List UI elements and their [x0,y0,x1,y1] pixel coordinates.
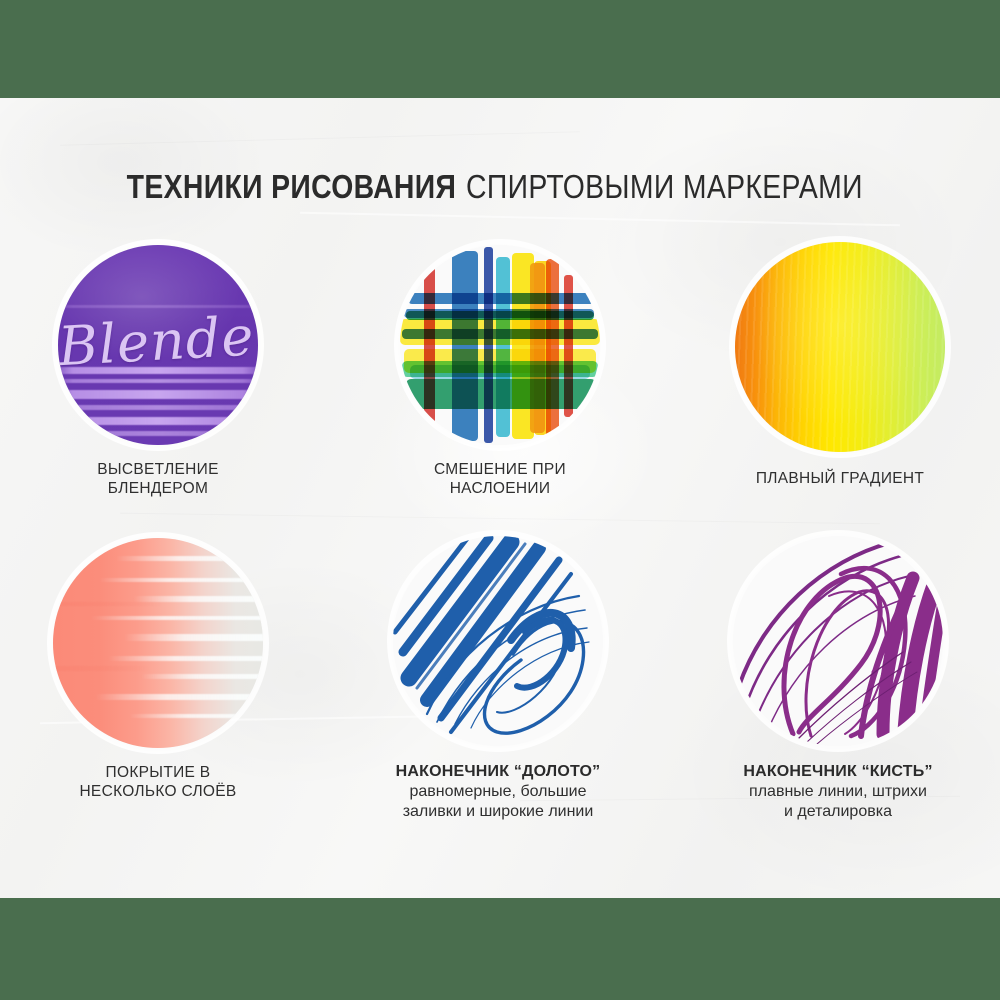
pink-streak-dark [53,666,150,671]
pink-streak [116,556,263,561]
stroke-vertical-blue [452,251,478,441]
stroke-vertical-cyan [496,257,510,437]
pink-streak [124,634,263,641]
stroke-horizontal-yellow [400,319,600,345]
paper-crease [300,212,900,227]
pink-streak [108,656,263,661]
caption-blender-lightening: ВЫСВЕТЛЕНИЕ БЛЕНДЕРОМ [0,461,325,499]
caption-sub-1: плавные линии, штрихи [671,782,1000,802]
blender-streak [58,417,258,425]
technique-item-multi-layer-coverage[interactable]: ПОКРЫТИЕ В НЕСКОЛЬКО СЛОЁВ [0,538,325,802]
stroke-horizontal-green [406,379,596,409]
swatch-smooth-gradient [735,242,945,452]
pink-streak [99,578,263,582]
pink-streak [91,616,263,620]
swatch-chisel-nib [393,536,603,746]
blender-handwritten-word: Blender [58,304,258,378]
swatch-layering-blend [400,245,600,445]
stroke-horizontal-blue [408,293,594,304]
caption-multi-layer-coverage: ПОКРЫТИЕ В НЕСКОЛЬКО СЛОЁВ [0,764,325,802]
chisel-nib-artwork [393,536,603,746]
poster-canvas: ТЕХНИКИ РИСОВАНИЯСПИРТОВЫМИ МАРКЕРАМИ Bl… [0,0,1000,1000]
caption-heading: НАКОНЕЧНИК “КИСТЬ” [671,762,1000,782]
blender-streak [58,390,258,399]
technique-item-smooth-gradient[interactable]: ПЛАВНЫЙ ГРАДИЕНТ [673,242,1000,489]
pink-streak [141,674,263,679]
page-title: ТЕХНИКИ РИСОВАНИЯСПИРТОВЫМИ МАРКЕРАМИ [0,168,1000,206]
caption-sub-2: заливки и широкие линии [331,802,665,822]
pink-streak [95,694,263,700]
caption-line-1: ВЫСВЕТЛЕНИЕ [0,461,325,480]
brush-nib-artwork [733,536,943,746]
caption-line-2: НЕСКОЛЬКО СЛОЁВ [0,783,325,802]
stroke-vertical-navy [484,247,493,443]
caption-heading: НАКОНЕЧНИК “ДОЛОТО” [331,762,665,782]
caption-line-1: СМЕШЕНИЕ ПРИ [333,461,667,480]
caption-sub-1: равномерные, большие [331,782,665,802]
caption-line-1: ПЛАВНЫЙ ГРАДИЕНТ [673,470,1000,489]
blender-streak [58,379,258,383]
blender-streak [58,431,258,436]
pink-streak [129,714,263,718]
caption-smooth-gradient: ПЛАВНЫЙ ГРАДИЕНТ [673,470,1000,489]
technique-item-layering-blend[interactable]: СМЕШЕНИЕ ПРИ НАСЛОЕНИИ [333,245,667,499]
pink-streak-dark [53,602,162,606]
technique-item-brush-nib[interactable]: НАКОНЕЧНИК “КИСТЬ” плавные линии, штрихи… [671,536,1000,822]
swatch-texture [735,242,945,452]
caption-line-2: БЛЕНДЕРОМ [0,480,325,499]
caption-sub-2: и деталировка [671,802,1000,822]
caption-line-1: ПОКРЫТИЕ В [0,764,325,783]
caption-brush-nib: НАКОНЕЧНИК “КИСТЬ” плавные линии, штрихи… [671,762,1000,822]
stroke-horizontal-cyan [410,365,590,379]
page-title-bold: ТЕХНИКИ РИСОВАНИЯ [126,168,456,206]
page-title-light: СПИРТОВЫМИ МАРКЕРАМИ [466,168,863,206]
paper-crease [120,513,880,525]
caption-line-2: НАСЛОЕНИИ [333,480,667,499]
blender-streak [58,405,258,410]
stroke-vertical-orange [546,259,559,437]
technique-item-chisel-nib[interactable]: НАКОНЕЧНИК “ДОЛОТО” равномерные, большие… [331,536,665,822]
swatch-multi-layer-coverage [53,538,263,748]
swatch-blender-lightening: Blender [58,245,258,445]
technique-item-blender-lightening[interactable]: Blender ВЫСВЕТЛЕНИЕ БЛЕНДЕРОМ [0,245,325,499]
swatch-brush-nib [733,536,943,746]
caption-layering-blend: СМЕШЕНИЕ ПРИ НАСЛОЕНИИ [333,461,667,499]
caption-chisel-nib: НАКОНЕЧНИК “ДОЛОТО” равномерные, большие… [331,762,665,822]
paper-crease [60,131,580,146]
